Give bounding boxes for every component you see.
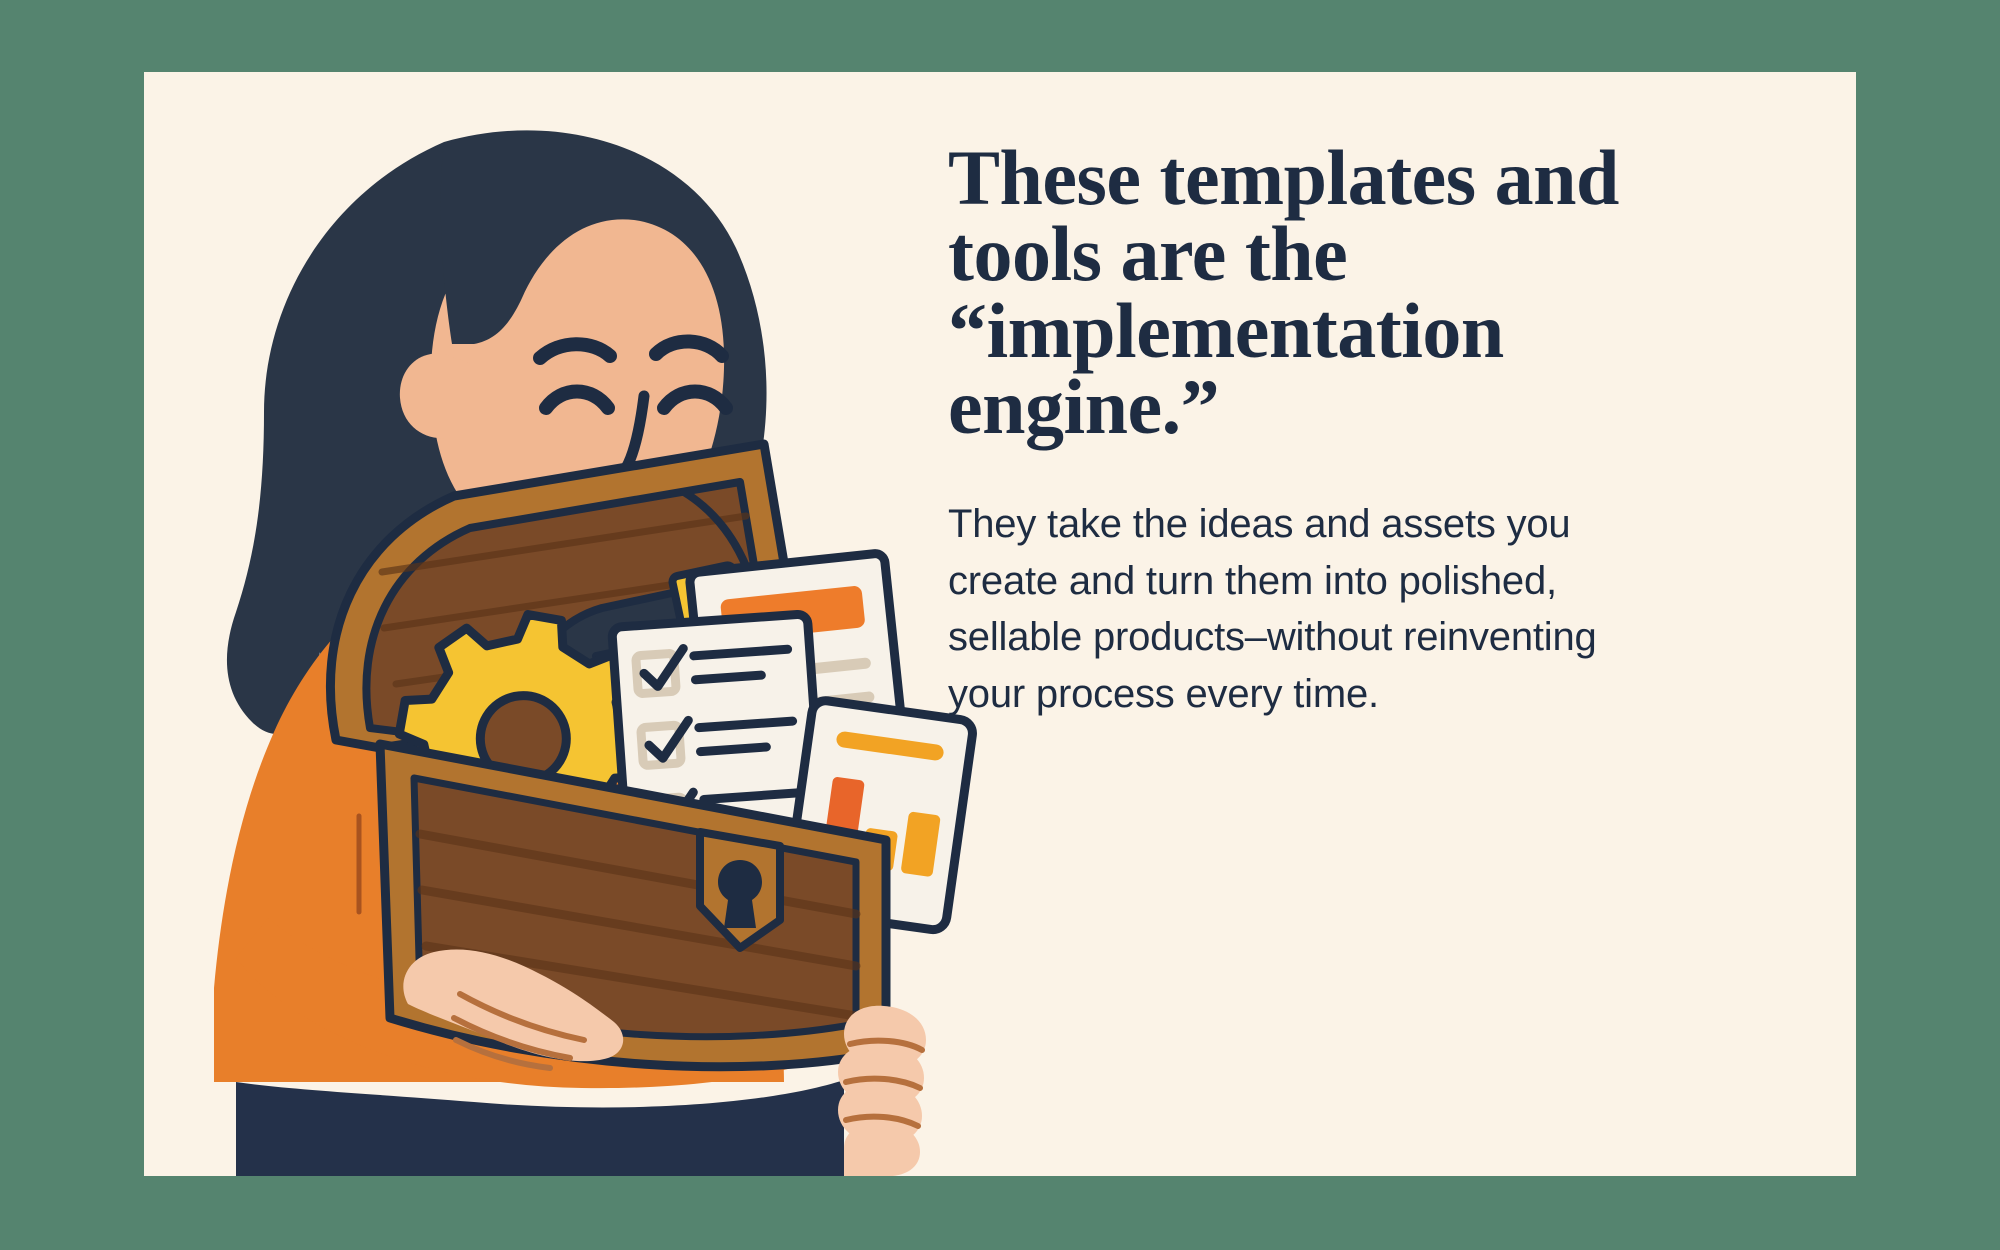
pants	[236, 1080, 844, 1176]
content-card: These templates and tools are the “imple…	[144, 72, 1856, 1176]
page-title: These templates and tools are the “imple…	[948, 140, 1648, 446]
text-column: These templates and tools are the “imple…	[948, 140, 1648, 723]
right-hand	[838, 1006, 926, 1176]
page-root: These templates and tools are the “imple…	[0, 0, 2000, 1250]
woman-holding-treasure-chest-illustration	[144, 72, 1044, 1176]
body-paragraph: They take the ideas and assets you creat…	[948, 446, 1648, 723]
